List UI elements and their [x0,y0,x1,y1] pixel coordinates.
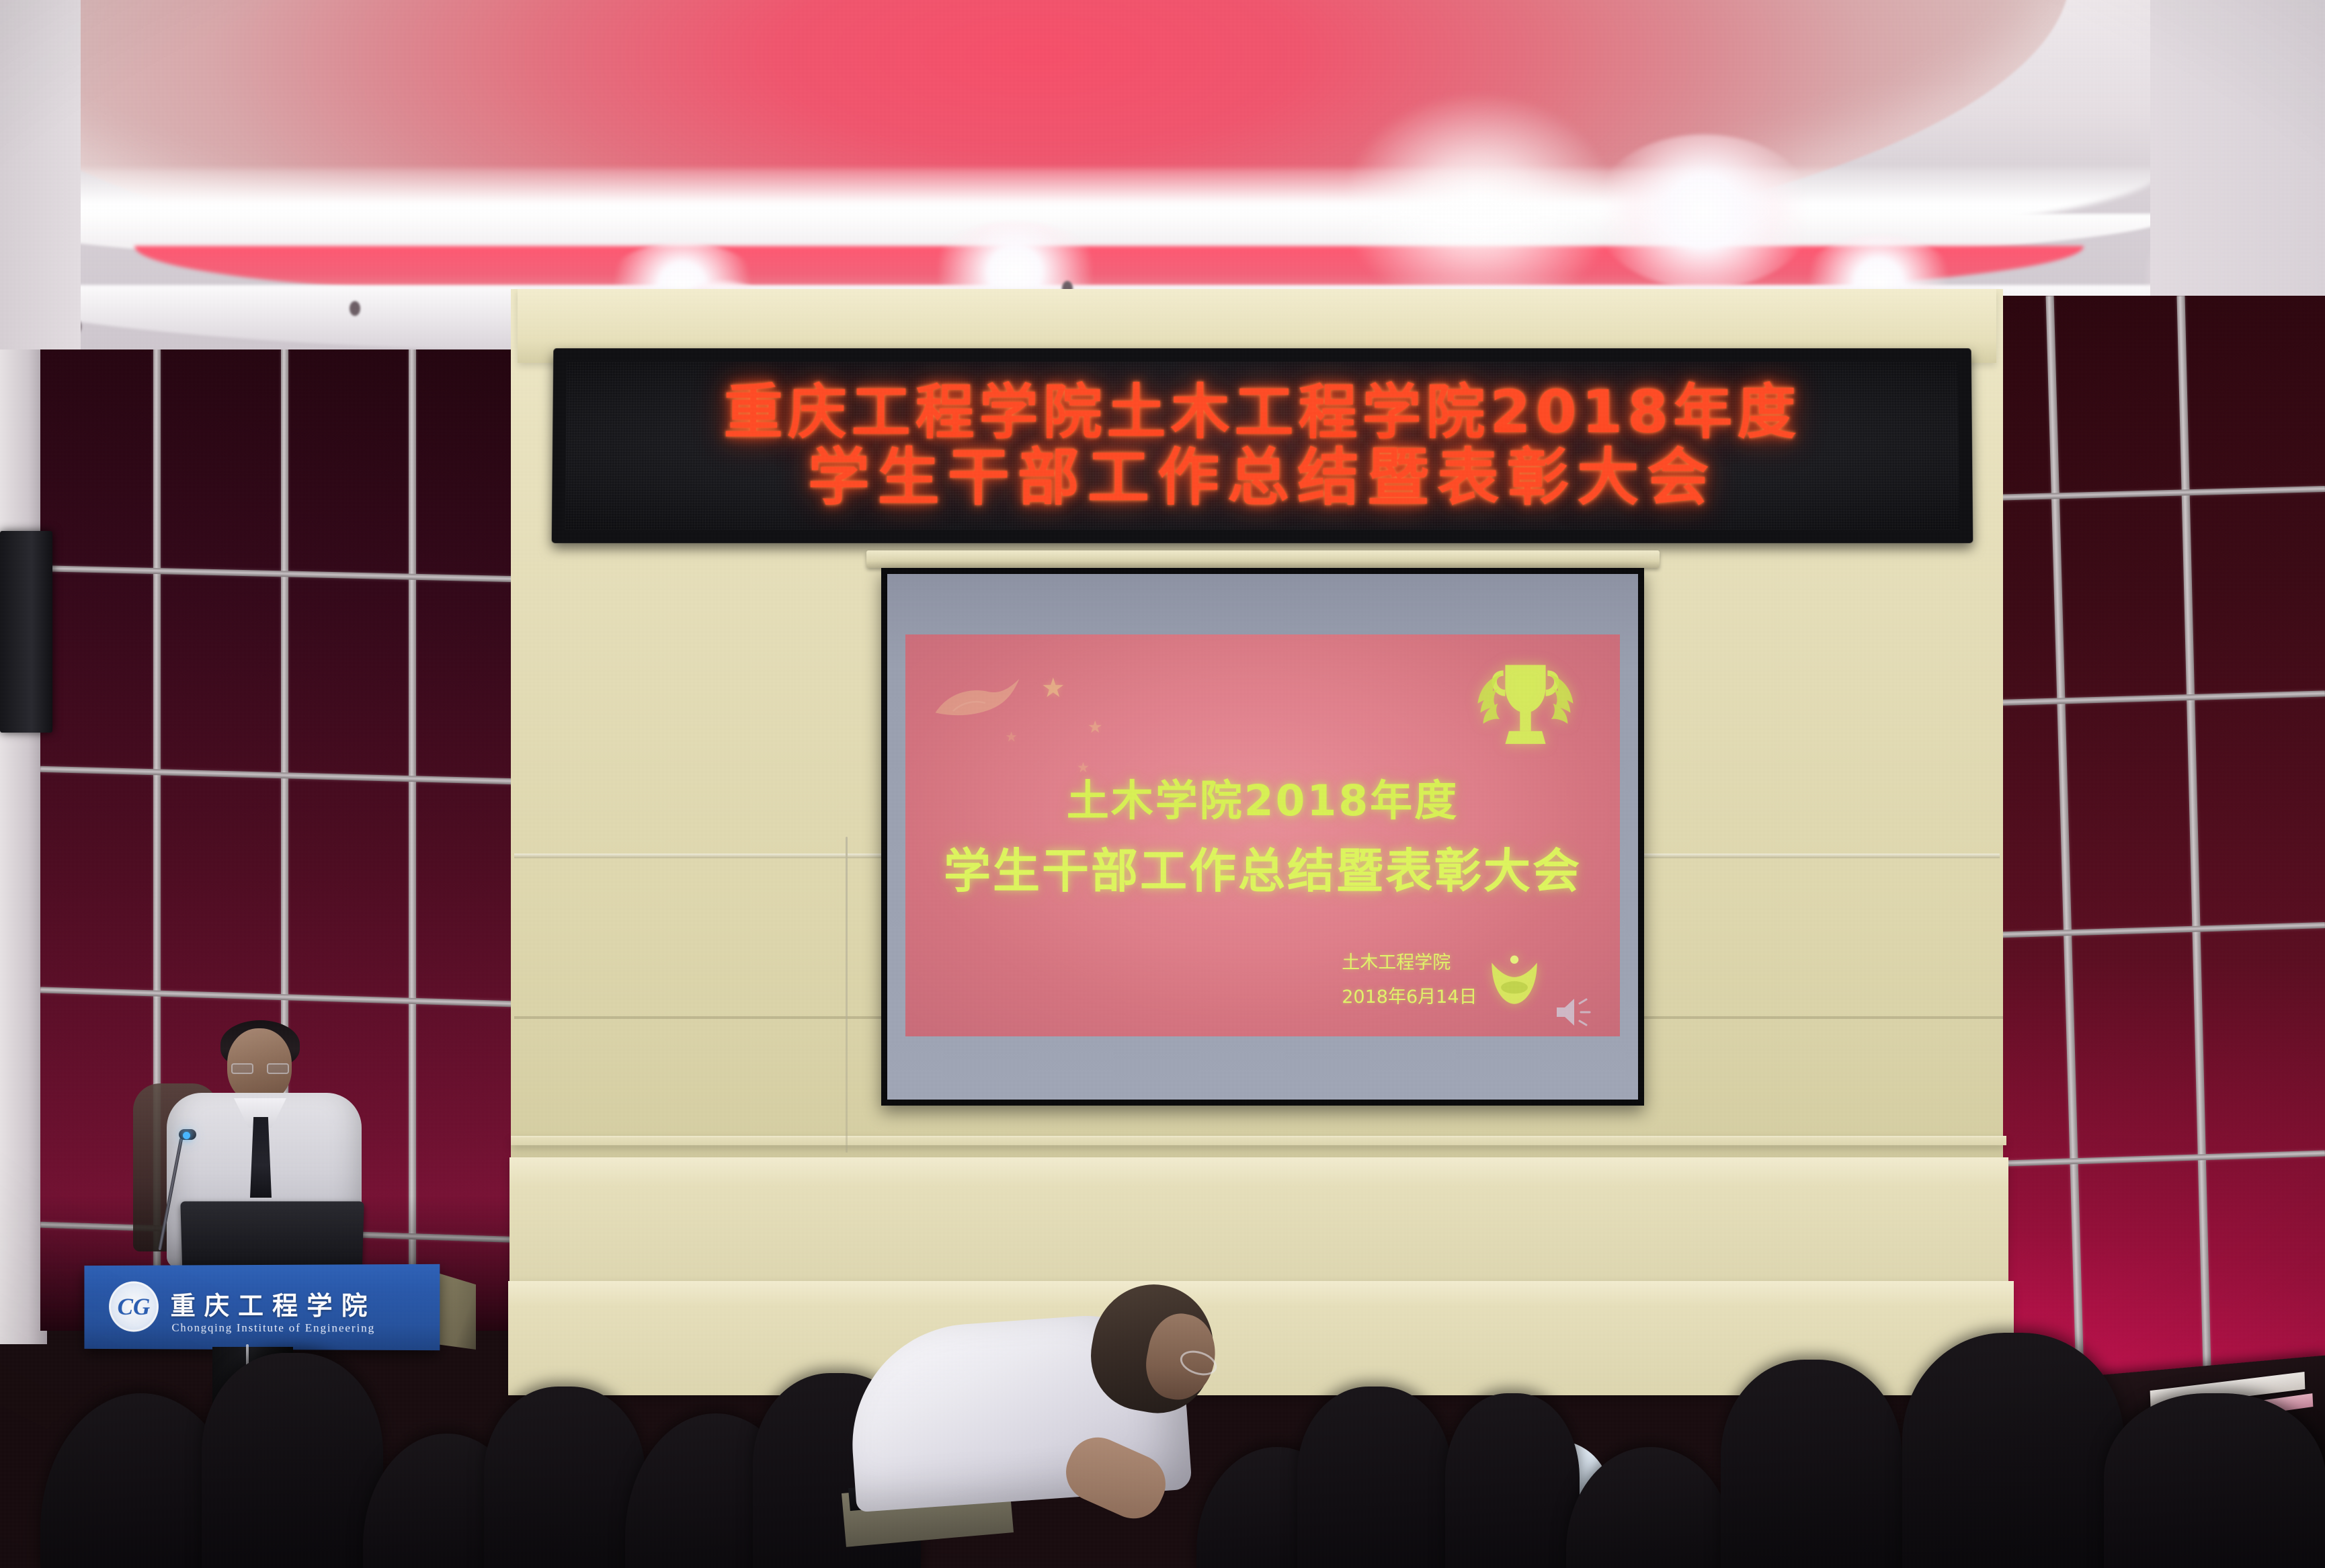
presenter-glasses [231,1063,289,1074]
star-icon: ★ [1041,675,1065,702]
audience-head [2104,1393,2325,1568]
wall-speaker [0,531,52,733]
screen-frame: ★ ★ ★ ★ [881,568,1644,1106]
audience-head [484,1387,645,1568]
wall-right-acoustic-panels [1962,296,2325,1425]
audience-foreground: 向 [0,1279,2325,1568]
trophy-icon [1470,647,1581,764]
star-icon: ★ [1088,719,1102,736]
screen-roller-housing [866,550,1660,568]
screen-surface: ★ ★ ★ ★ [887,574,1638,1100]
dove-icon [927,671,1028,735]
projection-screen-assembly: ★ ★ ★ ★ [881,568,1644,1106]
led-banner: 重庆工程学院土木工程学院2018年度 学生干部工作总结暨表彰大会 [552,348,1973,543]
audience-head [1297,1387,1452,1568]
audience-head [1445,1393,1580,1568]
ribbon-badge-icon [1483,950,1545,1012]
led-banner-line-2: 学生干部工作总结暨表彰大会 [807,446,1717,509]
slide-subtitle: 学生干部工作总结暨表彰大会 [905,833,1620,901]
dangling-cable [846,837,848,1153]
man-in-white-shirt-bending [844,1259,1274,1501]
slide-footer: 土木工程学院 2018年6月14日 [1342,946,1477,1015]
presenter-tie [250,1117,272,1198]
audience-head [1902,1333,2124,1568]
slide-title: 土木学院2018年度 [905,767,1620,828]
ceiling-spotlight [1593,134,1815,289]
audience-head [202,1353,383,1568]
panel-field [1962,296,2325,1425]
audience-head [1721,1360,1902,1568]
ceiling-left-return [0,0,81,376]
slide-footer-org: 土木工程学院 [1342,946,1477,980]
presentation-slide: ★ ★ ★ ★ [905,634,1620,1036]
star-icon: ★ [1006,731,1018,744]
microphone-led-indicator [183,1132,190,1139]
sound-icon [1553,994,1596,1030]
led-screen: 重庆工程学院土木工程学院2018年度 学生干部工作总结暨表彰大会 [565,362,1959,530]
led-banner-line-1: 重庆工程学院土木工程学院2018年度 [724,382,1801,442]
slide-footer-date: 2018年6月14日 [1342,980,1477,1014]
ceiling-recessed-fitting [350,301,360,316]
conference-hall-photo: 重庆工程学院土木工程学院2018年度 学生干部工作总结暨表彰大会 ★ ★ ★ ★ [0,0,2325,1568]
ceiling-spotlight-flare [1344,94,1613,316]
stage-step-upper [511,1136,2006,1145]
